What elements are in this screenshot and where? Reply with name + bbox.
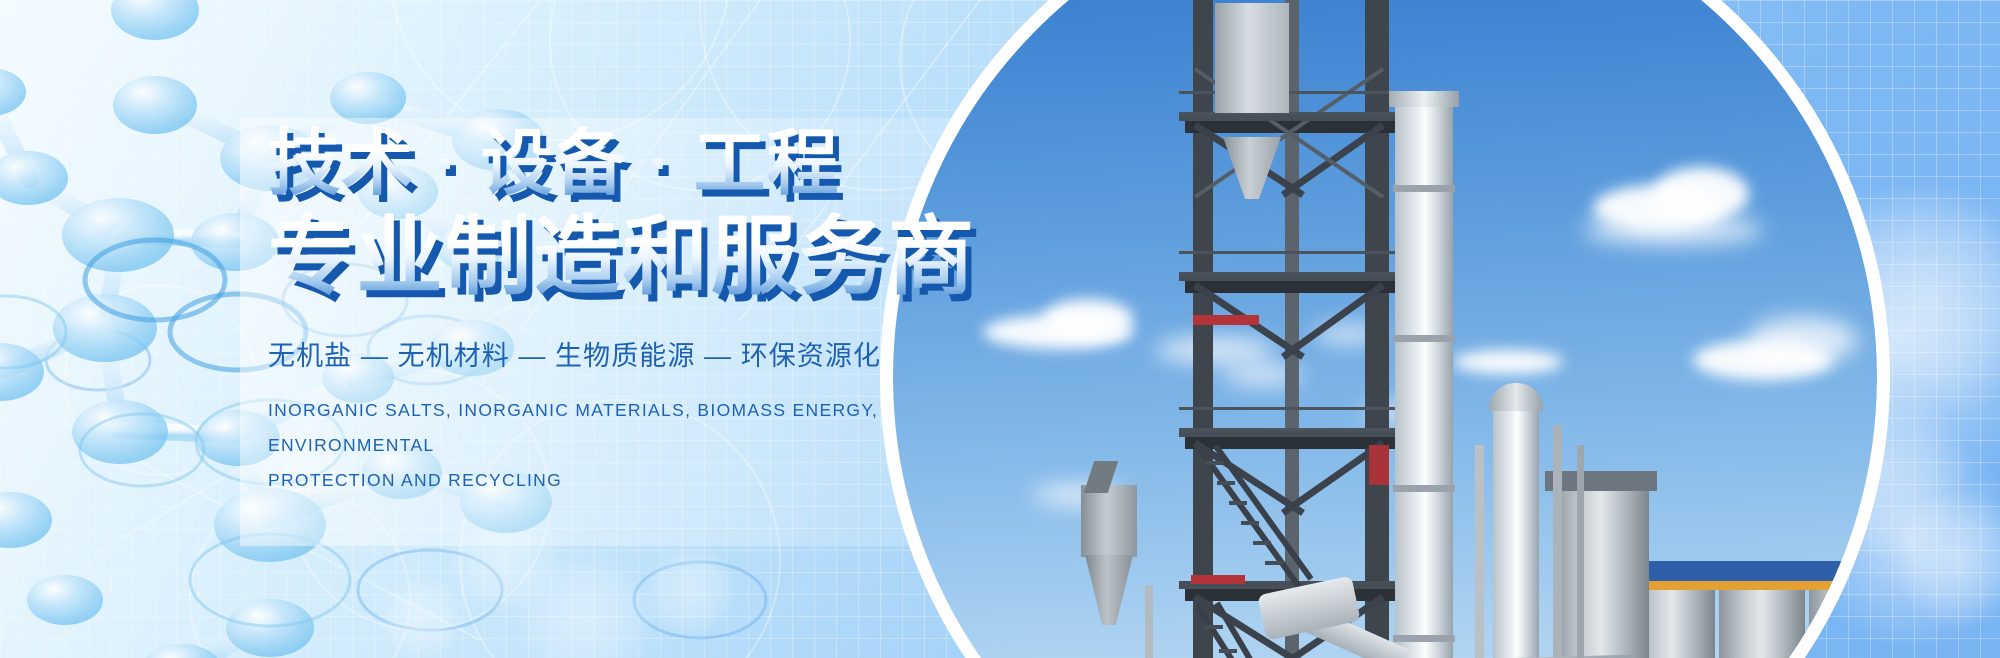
industrial-plant-photo <box>880 0 1890 658</box>
headline-line-2: 专业制造和服务商 专业制造和服务商 <box>268 214 1028 300</box>
subtitle-english: INORGANIC SALTS, INORGANIC MATERIALS, BI… <box>268 393 1028 498</box>
subtitle-english-line-1: INORGANIC SALTS, INORGANIC MATERIALS, BI… <box>268 393 1028 463</box>
headline-line-1-text: 技术 · 设备 · 工程 <box>268 124 840 204</box>
hero-banner: 技术 · 设备 · 工程 技术 · 设备 · 工程 专业制造和服务商 专业制造和… <box>0 0 2000 658</box>
headline-line-1: 技术 · 设备 · 工程 技术 · 设备 · 工程 <box>268 128 1028 200</box>
subtitle-chinese: 无机盐 — 无机材料 — 生物质能源 — 环保资源化 <box>268 334 1028 373</box>
headline-line-2-text: 专业制造和服务商 <box>268 209 977 305</box>
subtitle-english-line-2: PROTECTION AND RECYCLING <box>268 463 1028 498</box>
banner-copy: 技术 · 设备 · 工程 技术 · 设备 · 工程 专业制造和服务商 专业制造和… <box>268 120 1028 498</box>
photo-ring-border <box>880 0 1890 658</box>
headline: 技术 · 设备 · 工程 技术 · 设备 · 工程 专业制造和服务商 专业制造和… <box>268 128 1028 300</box>
